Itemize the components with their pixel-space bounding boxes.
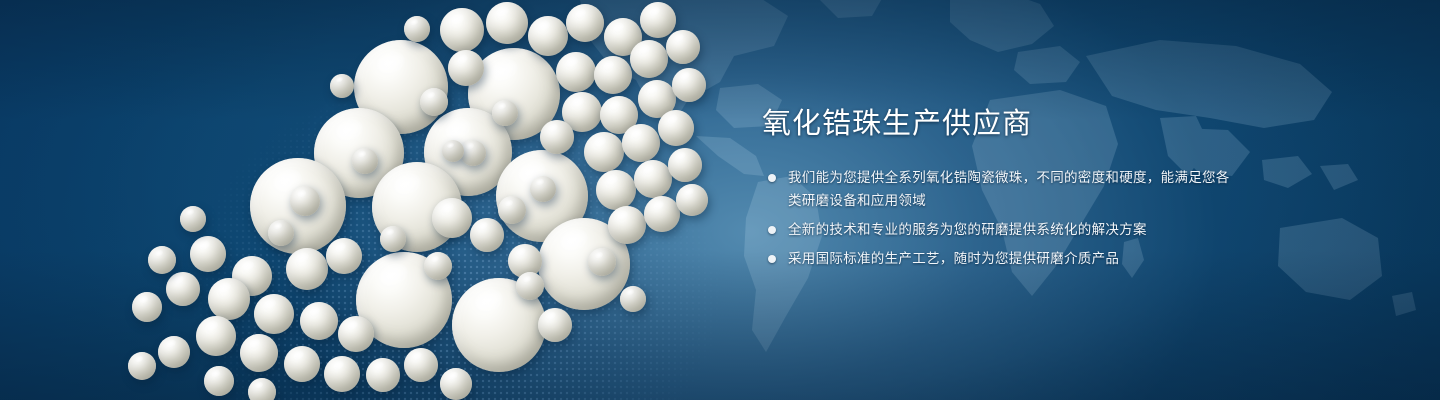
list-item: 采用国际标准的生产工艺，随时为您提供研磨介质产品 xyxy=(762,247,1232,270)
banner-headline: 氧化锆珠生产供应商 xyxy=(762,104,1232,144)
bullet-dot-icon xyxy=(768,174,776,182)
list-item: 全新的技术和专业的服务为您的研磨提供系统化的解决方案 xyxy=(762,218,1232,241)
list-item-text: 全新的技术和专业的服务为您的研磨提供系统化的解决方案 xyxy=(788,222,1147,237)
list-item: 我们能为您提供全系列氧化锆陶瓷微珠，不同的密度和硬度，能满足您各类研磨设备和应用… xyxy=(762,166,1232,212)
hero-banner: 氧化锆珠生产供应商 我们能为您提供全系列氧化锆陶瓷微珠，不同的密度和硬度，能满足… xyxy=(0,0,1440,400)
banner-copy: 氧化锆珠生产供应商 我们能为您提供全系列氧化锆陶瓷微珠，不同的密度和硬度，能满足… xyxy=(762,104,1232,270)
list-item-text: 采用国际标准的生产工艺，随时为您提供研磨介质产品 xyxy=(788,251,1119,266)
list-item-text: 我们能为您提供全系列氧化锆陶瓷微珠，不同的密度和硬度，能满足您各类研磨设备和应用… xyxy=(788,170,1230,208)
feature-list: 我们能为您提供全系列氧化锆陶瓷微珠，不同的密度和硬度，能满足您各类研磨设备和应用… xyxy=(762,166,1232,270)
bullet-dot-icon xyxy=(768,226,776,234)
bullet-dot-icon xyxy=(768,255,776,263)
zirconia-beads-photo xyxy=(0,0,760,400)
